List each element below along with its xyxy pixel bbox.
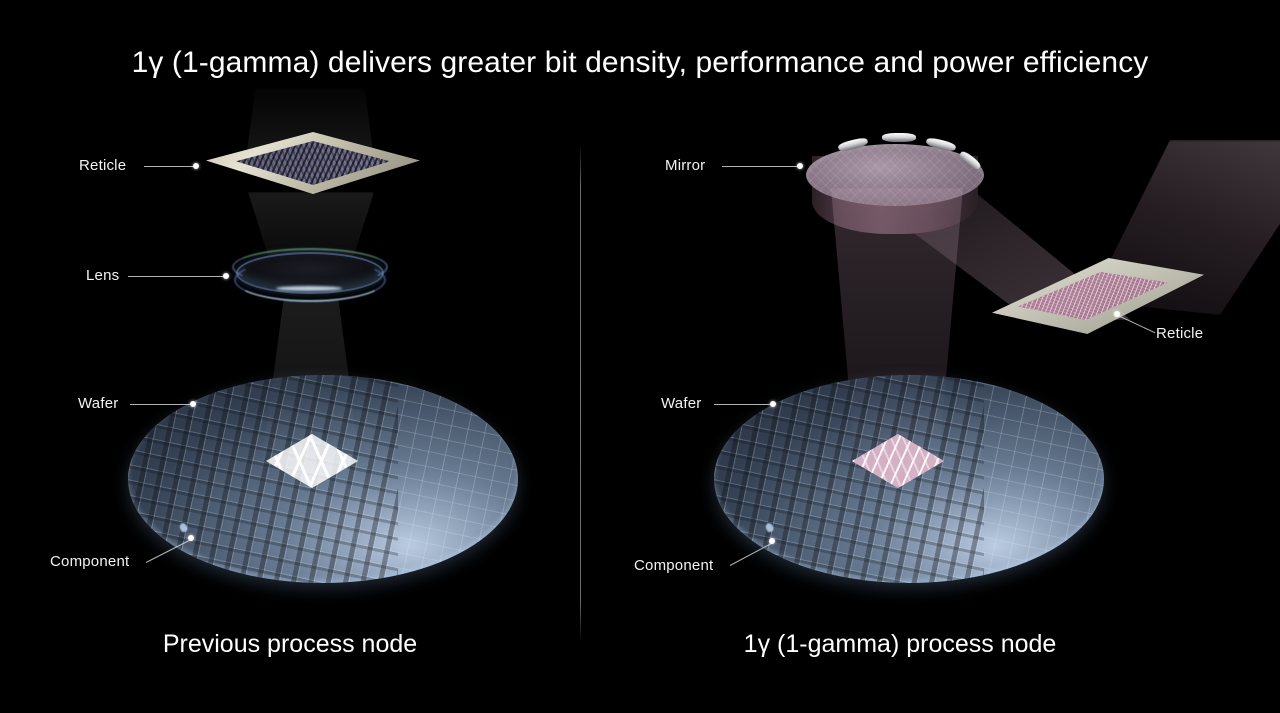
leader-dot-wafer-left <box>190 401 196 407</box>
callout-label-reticle-left: Reticle <box>79 157 126 174</box>
callout-label-wafer-left: Wafer <box>78 395 118 412</box>
leader-dot-component-left <box>188 535 194 541</box>
leader-dot-wafer-right <box>770 401 776 407</box>
diagram-canvas: 1γ (1-gamma) delivers greater bit densit… <box>0 0 1280 713</box>
leader-line-wafer-left <box>130 404 192 405</box>
page-title: 1γ (1-gamma) delivers greater bit densit… <box>0 46 1280 80</box>
leader-line-reticle-left <box>144 166 194 167</box>
leader-dot-reticle-right <box>1114 311 1120 317</box>
callout-label-lens: Lens <box>86 267 119 284</box>
leader-line-wafer-right <box>714 404 772 405</box>
panel-divider <box>580 146 581 640</box>
reticle-plate-right <box>992 258 1204 334</box>
callout-label-wafer-right: Wafer <box>661 395 701 412</box>
caption-1gamma-process-node: 1γ (1-gamma) process node <box>600 630 1200 659</box>
lens-element <box>232 248 388 304</box>
lens-rim-lower <box>234 258 386 302</box>
callout-label-component-right: Component <box>634 557 713 574</box>
leader-dot-component-right <box>769 538 775 544</box>
leader-dot-mirror <box>797 163 803 169</box>
caption-previous-process-node: Previous process node <box>0 630 580 659</box>
light-beam-reticle-to-lens <box>248 192 374 256</box>
leader-dot-reticle-left <box>193 163 199 169</box>
leader-line-lens <box>128 276 224 277</box>
mirror-clip <box>882 133 916 142</box>
reticle-plate-left <box>206 132 420 194</box>
callout-label-mirror: Mirror <box>665 157 705 174</box>
lens-highlight <box>276 286 342 291</box>
callout-label-reticle-right: Reticle <box>1156 325 1203 342</box>
leader-line-mirror <box>722 166 798 167</box>
leader-dot-lens <box>223 273 229 279</box>
callout-label-component-left: Component <box>50 553 129 570</box>
